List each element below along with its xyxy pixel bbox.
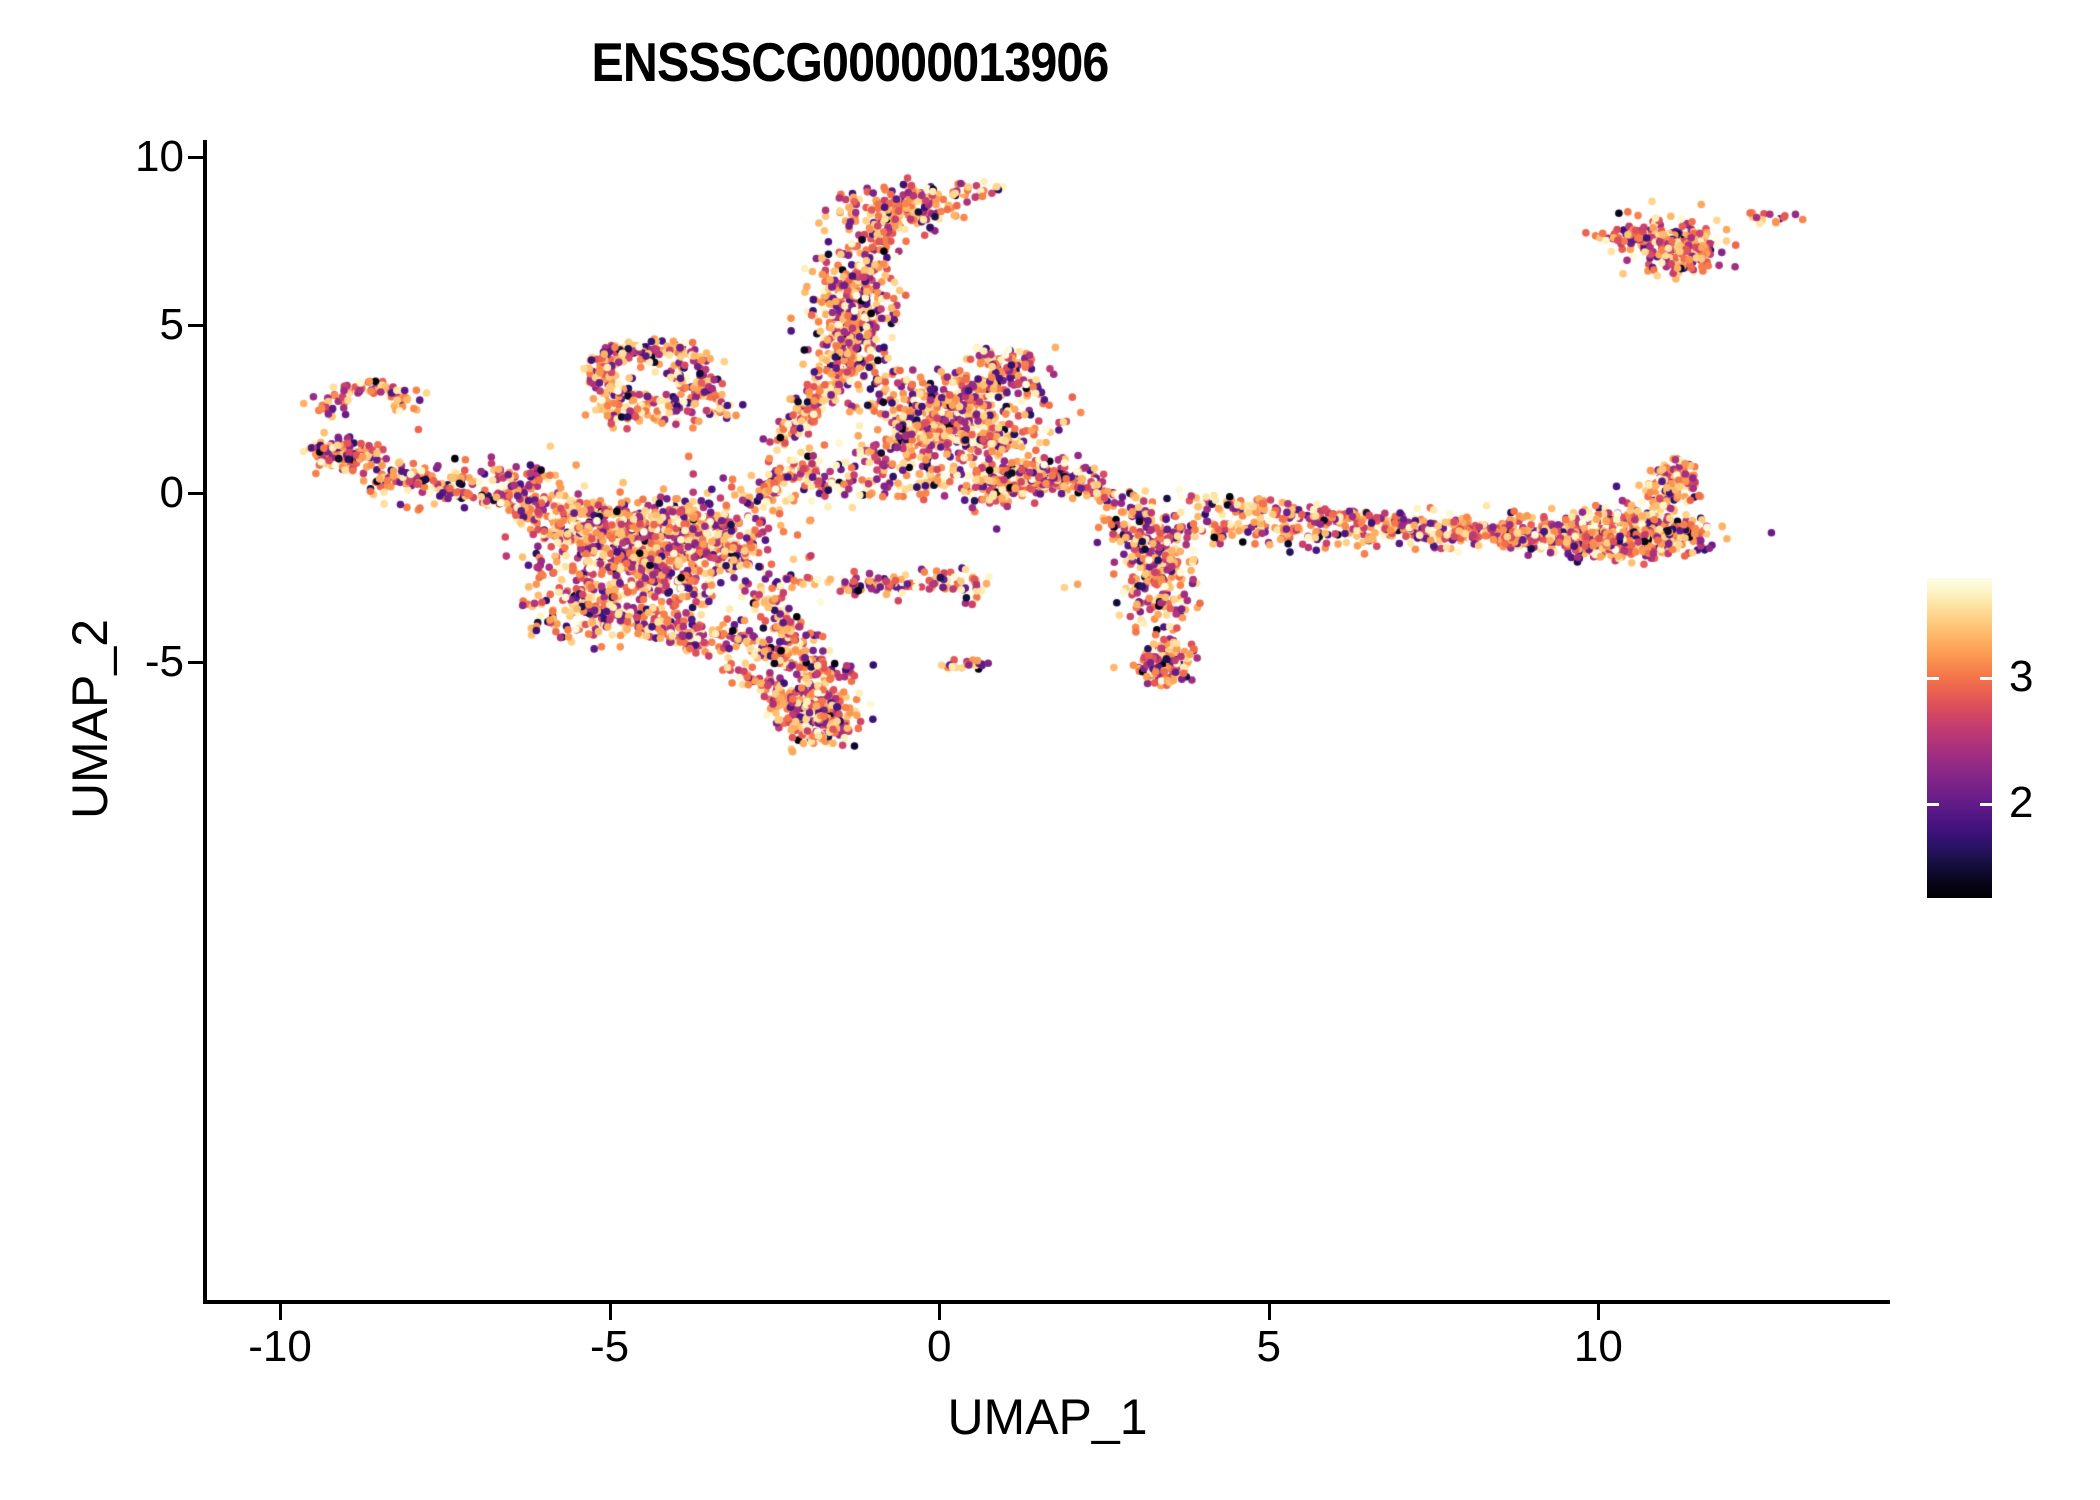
y-axis-line	[203, 140, 207, 1304]
page-title: ENSSSCG00000013906	[102, 30, 1598, 94]
x-tick-label: 0	[927, 1322, 951, 1372]
colorbar-tick-mark	[1927, 803, 1939, 806]
colorbar-tick-mark	[1980, 677, 1992, 680]
x-axis-title: UMAP_1	[205, 1388, 1890, 1446]
x-tick-label: -5	[590, 1322, 629, 1372]
y-axis-title: UMAP_2	[61, 319, 119, 1119]
x-axis-line	[203, 1300, 1890, 1304]
y-tick-label: 0	[160, 468, 184, 518]
x-tick-label: 5	[1257, 1322, 1281, 1372]
colorbar-tick-mark	[1980, 803, 1992, 806]
x-tick-mark	[279, 1304, 282, 1320]
umap-feature-plot: ENSSSCG00000013906 -50510 -10-50510 UMAP…	[0, 0, 2100, 1500]
y-tick-label: 10	[135, 132, 184, 182]
colorbar-tick-label: 2	[2009, 778, 2033, 828]
colorbar-gradient	[1927, 578, 1992, 898]
x-tick-mark	[1597, 1304, 1600, 1320]
x-tick-label: -10	[248, 1322, 312, 1372]
y-tick-label: 5	[160, 300, 184, 350]
x-tick-mark	[938, 1304, 941, 1320]
x-tick-mark	[609, 1304, 612, 1320]
y-tick-mark	[188, 492, 204, 495]
plot-panel	[205, 140, 1890, 1302]
y-tick-mark	[188, 661, 204, 664]
y-tick-mark	[188, 324, 204, 327]
colorbar-tick-label: 3	[2009, 652, 2033, 702]
scatter-points-layer	[205, 140, 1890, 1302]
x-tick-mark	[1268, 1304, 1271, 1320]
y-tick-label: -5	[145, 637, 184, 687]
colorbar-tick-mark	[1927, 677, 1939, 680]
y-tick-mark	[188, 156, 204, 159]
x-tick-label: 10	[1574, 1322, 1623, 1372]
